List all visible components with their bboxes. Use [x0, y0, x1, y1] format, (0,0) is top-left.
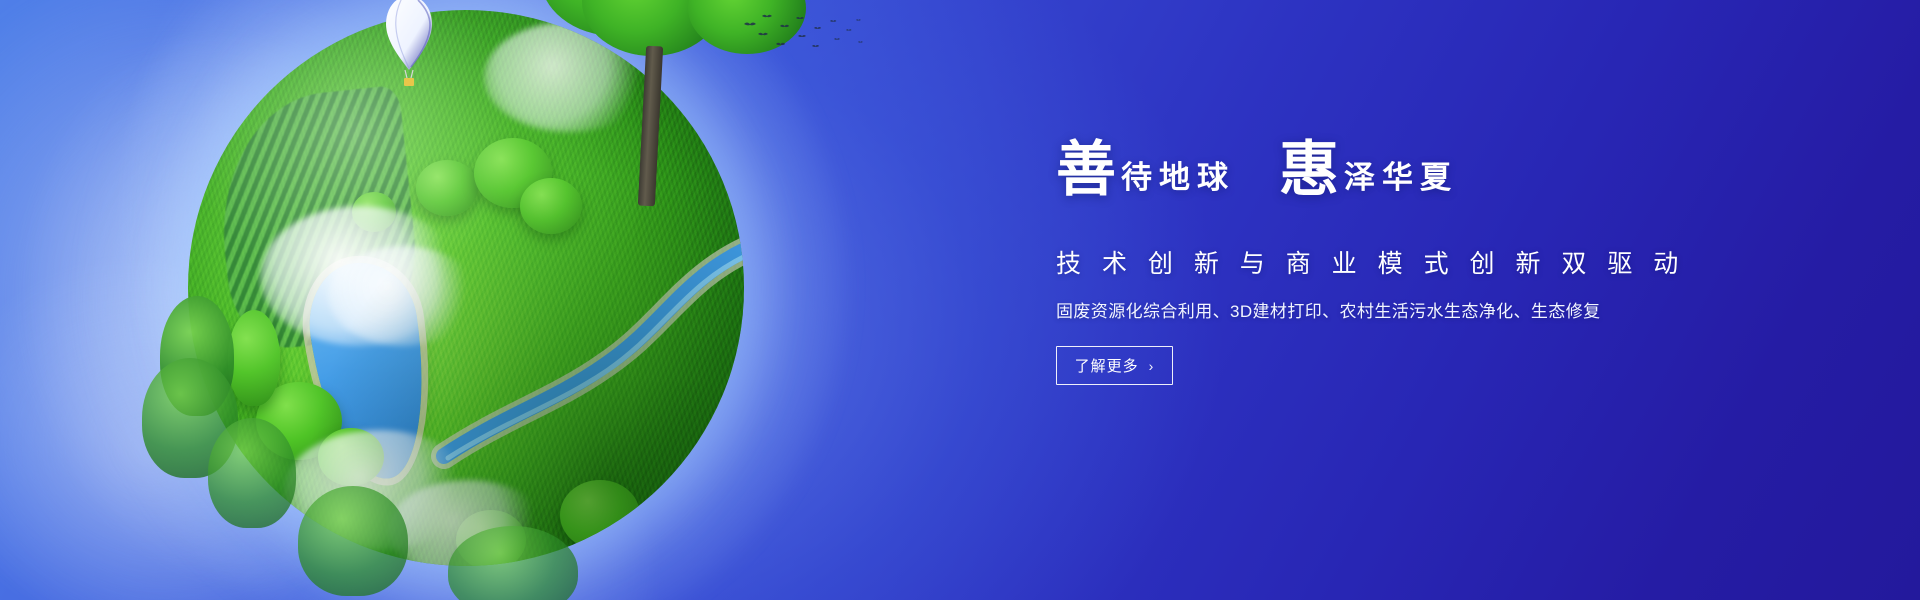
balloon-basket — [404, 78, 414, 86]
rim-tree — [208, 418, 296, 528]
subtitle: 技 术 创 新 与 商 业 模 式 创 新 双 驱 动 — [1056, 244, 1756, 280]
bird-flock-icon — [740, 12, 870, 60]
learn-more-label: 了解更多 — [1075, 355, 1139, 376]
description: 固废资源化综合利用、3D建材打印、农村生活污水生态净化、生态修复 — [1056, 297, 1756, 322]
headline-part2-big: 惠 — [1279, 140, 1340, 200]
headline-part2-small: 泽华夏 — [1340, 163, 1458, 200]
green-planet-artwork — [148, 0, 788, 600]
headline-part1-small: 待地球 — [1117, 163, 1235, 200]
hero-content: 善待地球惠泽华夏 技 术 创 新 与 商 业 模 式 创 新 双 驱 动 固废资… — [1056, 140, 1756, 385]
chevron-right-icon: › — [1149, 359, 1155, 373]
headline-part1-big: 善 — [1056, 140, 1117, 200]
page-title: 善待地球惠泽华夏 — [1056, 140, 1756, 228]
hero-banner: 善待地球惠泽华夏 技 术 创 新 与 商 业 模 式 创 新 双 驱 动 固废资… — [0, 0, 1920, 600]
rim-tree — [298, 486, 408, 596]
learn-more-button[interactable]: 了解更多 › — [1056, 346, 1173, 385]
hot-air-balloon-icon — [380, 0, 436, 92]
